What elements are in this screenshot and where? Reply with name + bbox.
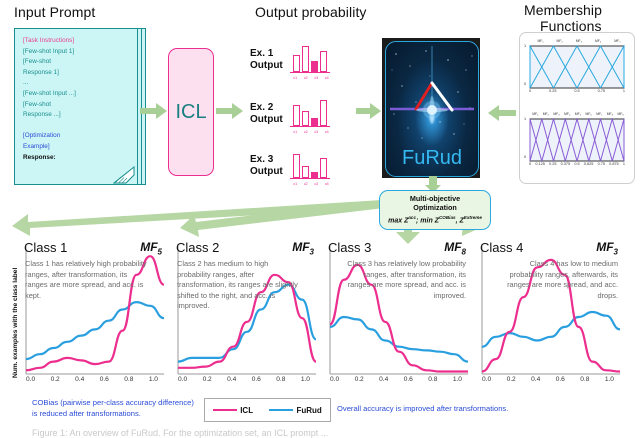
- prompt-line: Response:: [23, 153, 131, 164]
- prompt-line: [Optimization: [23, 131, 131, 142]
- prompt-line: [Few-shot Input ...]: [23, 89, 131, 100]
- class-panel-xticks: 0.00.20.40.60.81.0: [330, 376, 462, 383]
- barchart-tick: c4: [325, 76, 329, 80]
- barchart-tick: c3: [314, 182, 318, 186]
- probability-bar: [293, 55, 300, 72]
- mf-xtick: 0.5: [574, 162, 579, 166]
- prompt-line: Response ...]: [23, 110, 131, 121]
- class-panel-xticks: 0.00.20.40.60.81.0: [482, 376, 614, 383]
- legend-swatch-furud: [269, 409, 293, 412]
- prompt-line: ...: [23, 78, 131, 89]
- xtick: 0.6: [404, 376, 413, 383]
- optimization-formula: max Zacc; min ZCOBias, ZExtreme: [388, 213, 482, 226]
- xtick: 0.8: [276, 376, 285, 383]
- xtick: 0.8: [428, 376, 437, 383]
- output-example-label: Ex. 1Output: [250, 48, 290, 72]
- page-title-output-probability: Output probability: [255, 4, 367, 20]
- xtick: 0.4: [227, 376, 236, 383]
- xtick: 1.0: [301, 376, 310, 383]
- output-example-row: Ex. 3Outputc1c2c3c4: [250, 148, 332, 184]
- xtick: 0.0: [482, 376, 491, 383]
- mf-xtick: 0.875: [609, 162, 619, 166]
- prompt-line: [Few-shot: [23, 57, 131, 68]
- page-title-input-prompt: Input Prompt: [14, 4, 95, 20]
- arrow-membership-to-furud: [486, 103, 516, 123]
- xtick: 1.0: [605, 376, 614, 383]
- barchart-tick: c1: [293, 130, 297, 134]
- output-example-row: Ex. 1Outputc1c2c3c4: [250, 42, 332, 78]
- multi-objective-optimization-box: Multi-objective Optimization max Zacc; m…: [379, 190, 491, 230]
- mf-xtick: 0.375: [561, 162, 571, 166]
- prompt-text-body: [Task Instructions][Few-shot Input 1][Fe…: [23, 36, 131, 163]
- class-panel-title: Class 2: [176, 240, 219, 255]
- mf-xtick: 0.75: [598, 89, 605, 93]
- probability-bar: [320, 51, 327, 72]
- mf-curve-label: MF₇: [596, 112, 602, 116]
- xtick: 0.0: [26, 376, 35, 383]
- probability-bar: [311, 61, 318, 72]
- xtick: 0.6: [252, 376, 261, 383]
- class-panel-title: Class 4: [480, 240, 523, 255]
- barchart-ticklabels: c1c2c3c4: [290, 182, 332, 186]
- mf-curve-label: MF₄: [595, 39, 601, 43]
- output-probability-barchart: c1c2c3c4: [290, 96, 332, 132]
- xtick: 0.4: [75, 376, 84, 383]
- footer-left-note: COBias (pairwise per-class accuracy diff…: [32, 398, 197, 419]
- probability-bar: [293, 154, 300, 178]
- mf-xtick: 0.5: [574, 89, 579, 93]
- prompt-line: Response 1]: [23, 68, 131, 79]
- probability-bar: [302, 166, 309, 178]
- mf-curve-label: MF₆: [586, 112, 592, 116]
- barchart-tick: c4: [325, 182, 329, 186]
- mf-bot-ytick-1: 1: [524, 117, 526, 121]
- mf-xtick: 0.625: [584, 162, 594, 166]
- mf-curve-label: MF₉: [617, 112, 623, 116]
- mf-curve-label: MF₂: [557, 39, 563, 43]
- class-panel-mf-label: MF3: [292, 240, 314, 256]
- probability-bar: [302, 111, 309, 126]
- barchart-tick: c1: [293, 182, 297, 186]
- xtick: 1.0: [453, 376, 462, 383]
- barchart-tick: c1: [293, 76, 297, 80]
- optimization-line1: Multi-objective: [410, 194, 460, 204]
- xtick: 0.8: [580, 376, 589, 383]
- class-panel: Class 4MF3Class 4 has low to medium prob…: [472, 240, 624, 388]
- legend-label-icl: ICL: [240, 406, 253, 415]
- barchart-tick: c2: [304, 182, 308, 186]
- prompt-line: [23, 121, 131, 132]
- class-panel-xticks: 0.00.20.40.60.81.0: [26, 376, 158, 383]
- output-probability-barchart: c1c2c3c4: [290, 42, 332, 78]
- barchart-ticklabels: c1c2c3c4: [290, 130, 332, 134]
- output-example-label: Ex. 2Output: [250, 102, 290, 126]
- y-axis-label: Num. examples with the class label: [2, 250, 14, 380]
- class-panel-description: Class 4 has low to medium probability ra…: [496, 259, 618, 301]
- mf-curve-label: MF₁: [532, 112, 538, 116]
- mf-curve-label: MF₅: [575, 112, 581, 116]
- mf-xtick: 0: [529, 162, 531, 166]
- class-panel-xticks: 0.00.20.40.60.81.0: [178, 376, 310, 383]
- xtick: 0.2: [507, 376, 516, 383]
- mf-curve-label: MF₃: [576, 39, 582, 43]
- mf-curve-label: MF₂: [543, 112, 549, 116]
- barchart-tick: c3: [314, 130, 318, 134]
- mf-xtick: 0.25: [549, 162, 556, 166]
- footer-right-note: Overall accuracy is improved after trans…: [337, 404, 508, 415]
- legend-label-furud: FuRud: [296, 406, 321, 415]
- barchart-ticklabels: c1c2c3c4: [290, 76, 332, 80]
- icl-module-box: ICL: [168, 48, 214, 176]
- prompt-line: [Few-shot: [23, 100, 131, 111]
- output-example-label: Ex. 3Output: [250, 154, 290, 178]
- class-panel-mf-label: MF5: [140, 240, 162, 256]
- mf-xtick: 1: [623, 162, 625, 166]
- arrow-prompt-to-icl: [140, 100, 168, 122]
- barchart-tick: c3: [314, 76, 318, 80]
- membership-plot-bottom: MF₁MF₂MF₃MF₄MF₅MF₆MF₇MF₈MF₉ 00.1250.250.…: [529, 118, 625, 167]
- membership-plot-bottom-svg: [529, 118, 625, 162]
- mf-curve-label: MF₄: [564, 112, 570, 116]
- mf-curve-label: MF₈: [607, 112, 613, 116]
- mf-xtick: 0.75: [598, 162, 605, 166]
- class-panel: Class 1MF5Class 1 has relatively high pr…: [16, 240, 168, 388]
- xtick: 0.2: [355, 376, 364, 383]
- mf-xtick: 1: [623, 89, 625, 93]
- class-panel: Class 3MF8Class 3 has relatively low pro…: [320, 240, 472, 388]
- xtick: 0.6: [556, 376, 565, 383]
- xtick: 0.4: [379, 376, 388, 383]
- class-panel-description: Class 3 has relatively low probability r…: [344, 259, 466, 301]
- xtick: 0.2: [203, 376, 212, 383]
- barchart-tick: c4: [325, 130, 329, 134]
- page-fold-icon: [113, 166, 135, 184]
- prompt-sheet-front: [Task Instructions][Few-shot Input 1][Fe…: [14, 28, 138, 185]
- mf-curve-label: MF₁: [537, 39, 543, 43]
- class-panel: Class 2MF3Class 2 has medium to high pro…: [168, 240, 320, 388]
- legend-item-icl: ICL: [213, 406, 253, 415]
- prompt-line: Example]: [23, 142, 131, 153]
- class-panel-description: Class 1 has relatively high probability …: [25, 259, 147, 301]
- class-panel-title: Class 3: [328, 240, 371, 255]
- class-panel-mf-label: MF3: [596, 240, 618, 256]
- barchart-axis: [290, 72, 330, 73]
- xtick: 0.0: [330, 376, 339, 383]
- mf-bot-ytick-0: 0: [524, 155, 526, 159]
- mf-top-ytick-0: 0: [524, 82, 526, 86]
- mf-xtick: 0.125: [535, 162, 545, 166]
- probability-bar: [320, 100, 327, 126]
- furud-label: FuRud: [386, 147, 478, 170]
- legend-swatch-icl: [213, 409, 237, 412]
- class-panel-description: Class 2 has medium to high probability r…: [177, 259, 299, 312]
- optimization-line2: Optimization: [413, 203, 457, 213]
- mf-xtick: 0: [529, 89, 531, 93]
- barchart-axis: [290, 126, 330, 127]
- membership-plot-top-svg: [529, 45, 625, 89]
- xtick: 1.0: [149, 376, 158, 383]
- mf-xtick: 0.25: [549, 89, 556, 93]
- barchart-tick: c2: [304, 76, 308, 80]
- probability-bar: [302, 46, 309, 72]
- xtick: 0.8: [124, 376, 133, 383]
- output-probability-barchart: c1c2c3c4: [290, 148, 332, 184]
- arrow-outputs-to-furud: [356, 100, 382, 122]
- prompt-line: [Task Instructions]: [23, 36, 131, 47]
- input-prompt-card: [Task Instructions][Few-shot Input 1][Fe…: [14, 28, 144, 183]
- mf-top-ytick-1: 1: [524, 44, 526, 48]
- barchart-tick: c2: [304, 130, 308, 134]
- mf-curve-label: MF₃: [553, 112, 559, 116]
- class-panel-title: Class 1: [24, 240, 67, 255]
- membership-plot-top: MF₁MF₂MF₃MF₄MF₅ 00.250.50.751 1 0: [529, 45, 625, 94]
- xtick: 0.6: [100, 376, 109, 383]
- probability-bar: [293, 105, 300, 126]
- membership-functions-card: MF₁MF₂MF₃MF₄MF₅ 00.250.50.751 1 0 MF₁MF₂…: [519, 32, 635, 184]
- output-example-row: Ex. 2Outputc1c2c3c4: [250, 96, 332, 132]
- class-panel-mf-label: MF8: [444, 240, 466, 256]
- xtick: 0.4: [531, 376, 540, 383]
- chart-legend: ICL FuRud: [204, 398, 331, 422]
- xtick: 0.0: [178, 376, 187, 383]
- barchart-axis: [290, 178, 330, 179]
- furud-logo-card: FuRud: [382, 38, 480, 178]
- mf-curve-label: MF₅: [614, 39, 620, 43]
- icl-label: ICL: [175, 101, 206, 124]
- xtick: 0.2: [51, 376, 60, 383]
- page-title-membership-functions-line1: Membership: [524, 2, 602, 18]
- probability-bar: [320, 158, 327, 178]
- prompt-line: [Few-shot Input 1]: [23, 47, 131, 58]
- legend-item-furud: FuRud: [269, 406, 321, 415]
- arrow-icl-to-outputs: [216, 100, 244, 122]
